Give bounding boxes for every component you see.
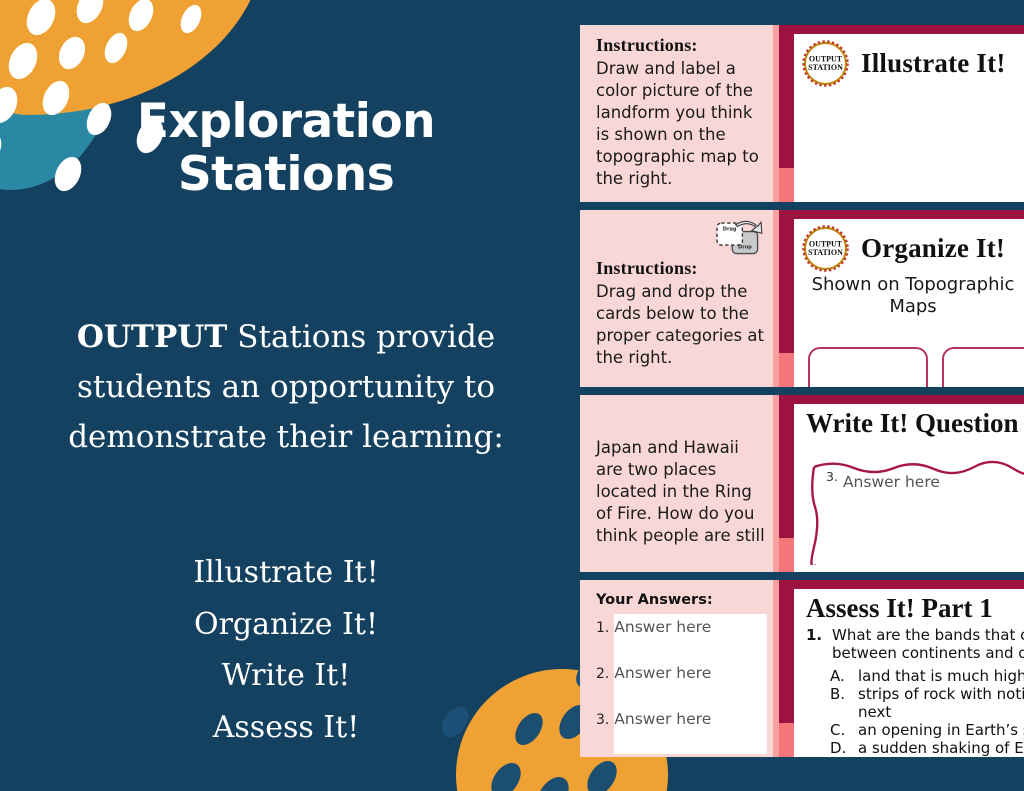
instructions-body: Drag and drop the cards below to the pro… (596, 281, 767, 369)
choice-item[interactable]: B.strips of rock with notice (830, 685, 1024, 703)
maroon-bottom-accent (779, 538, 794, 572)
instructions-pane: Instructions: Draw and label a color pic… (580, 25, 779, 202)
choice-letter: D. (830, 739, 858, 757)
slide-content-pane: OUTPUT STATION Illustrate It! (779, 25, 1024, 202)
choice-text: next (858, 703, 891, 721)
station-list-item: Illustrate It! (16, 547, 556, 599)
svg-text:STATION: STATION (808, 248, 843, 257)
instructions-body: Draw and label a color picture of the la… (596, 58, 767, 190)
choice-letter: C. (830, 721, 858, 739)
slide-title: Assess It! Part 1 (794, 589, 1024, 626)
slide-title: Organize It! (861, 233, 1005, 264)
slide-content-pane: Write It! Question 3.Answer here (779, 395, 1024, 572)
slide-content-pane: OUTPUT STATION Organize It! Shown on Top… (779, 210, 1024, 387)
slide-preview-organize-it[interactable]: Drop Drag Instructions: Drag and drop th… (580, 210, 1024, 387)
slide-preview-assess-it[interactable]: Your Answers: 1. Answer here 2. Answer h… (580, 580, 1024, 757)
title-line-2: Stations (36, 149, 536, 202)
lede-paragraph: OUTPUT Stations provide students an oppo… (16, 312, 556, 463)
question-line-2: between continents and oc (832, 644, 1024, 662)
svg-text:OUTPUT: OUTPUT (809, 55, 843, 64)
choice-letter: B. (830, 685, 858, 703)
answer-number: 3. (596, 712, 609, 728)
page-title: Exploration Stations (36, 96, 536, 201)
slide-content-pane: Assess It! Part 1 1.What are the bands t… (779, 580, 1024, 757)
answers-label: Your Answers: (596, 592, 767, 608)
answer-number: 3. (826, 469, 838, 484)
choice-text: an opening in Earth’s sur (858, 721, 1024, 739)
answer-value: Answer here (614, 664, 711, 682)
choice-item[interactable]: D.a sudden shaking of Eart (830, 739, 1024, 757)
title-line-1: Exploration (36, 96, 536, 149)
output-station-seal-icon: OUTPUT STATION (802, 225, 849, 272)
answer-number: 1. (596, 620, 609, 636)
answer-number: 2. (596, 666, 609, 682)
slide-canvas: Exploration Stations OUTPUT Stations pro… (0, 0, 1024, 791)
wavy-answer-box[interactable]: 3.Answer here (808, 455, 1024, 565)
slide-header-row: OUTPUT STATION Organize It! (794, 219, 1024, 272)
answer-value: Answer here (614, 710, 711, 728)
maroon-bottom-accent (779, 353, 794, 387)
slide-preview-write-it[interactable]: Japan and Hawaii are two places located … (580, 395, 1024, 572)
choice-item-continuation: next (830, 703, 1024, 721)
category-box-row (808, 347, 1024, 387)
slide-title: Illustrate It! (861, 48, 1006, 79)
svg-text:Drag: Drag (723, 227, 737, 233)
svg-text:Drop: Drop (738, 244, 752, 250)
instructions-label: Instructions: (596, 35, 767, 56)
left-content-column: Exploration Stations OUTPUT Stations pro… (0, 0, 572, 791)
choice-item[interactable]: C.an opening in Earth’s sur (830, 721, 1024, 739)
question-line-1: What are the bands that ca (832, 626, 1024, 644)
instructions-pane: Drop Drag Instructions: Drag and drop th… (580, 210, 779, 387)
station-list-item: Organize It! (16, 599, 556, 651)
drag-and-drop-icon: Drop Drag (713, 218, 765, 262)
choice-item[interactable]: A.land that is much higher (830, 667, 1024, 685)
question-text: What are the bands that cabetween contin… (832, 626, 1024, 662)
question-block: 1.What are the bands that cabetween cont… (794, 626, 1024, 662)
station-list-item: Assess It! (16, 702, 556, 754)
output-station-seal-icon: OUTPUT STATION (802, 40, 849, 87)
station-list-item: Write It! (16, 650, 556, 702)
maroon-bottom-accent (779, 723, 794, 757)
question-number: 1. (806, 626, 832, 644)
svg-text:OUTPUT: OUTPUT (809, 240, 843, 249)
category-box[interactable] (942, 347, 1024, 387)
instructions-body: Japan and Hawaii are two places located … (596, 437, 767, 547)
choice-letter: A. (830, 667, 858, 685)
slide-title: Write It! Question (794, 404, 1024, 441)
answers-box[interactable]: 1. Answer here 2. Answer here 3. Answer … (614, 614, 767, 754)
answer-placeholder: Answer here (843, 473, 940, 491)
category-box[interactable] (808, 347, 928, 387)
answer-placeholder-row: 3.Answer here (826, 469, 940, 491)
station-list: Illustrate It! Organize It! Write It! As… (16, 547, 556, 753)
answer-row: 2. Answer here (596, 664, 711, 682)
answer-value: Answer here (614, 618, 711, 636)
choice-text: strips of rock with notice (858, 685, 1024, 703)
answer-row: 1. Answer here (596, 618, 711, 636)
slide-header-row: OUTPUT STATION Illustrate It! (794, 34, 1024, 87)
instructions-pane: Japan and Hawaii are two places located … (580, 395, 779, 572)
answer-row: 3. Answer here (596, 710, 711, 728)
answers-pane: Your Answers: 1. Answer here 2. Answer h… (580, 580, 779, 757)
answer-area: 3.Answer here (794, 441, 1024, 565)
organize-subtitle: Shown on Topographic Maps (794, 274, 1024, 318)
choice-list: A.land that is much higher B.strips of r… (794, 667, 1024, 757)
choice-text: a sudden shaking of Eart (858, 739, 1024, 757)
lede-bold-word: OUTPUT (77, 319, 228, 355)
choice-text: land that is much higher (858, 667, 1024, 685)
svg-text:STATION: STATION (808, 63, 843, 72)
maroon-bottom-accent (779, 168, 794, 202)
slide-preview-column: Instructions: Draw and label a color pic… (580, 25, 1024, 765)
slide-preview-illustrate-it[interactable]: Instructions: Draw and label a color pic… (580, 25, 1024, 202)
